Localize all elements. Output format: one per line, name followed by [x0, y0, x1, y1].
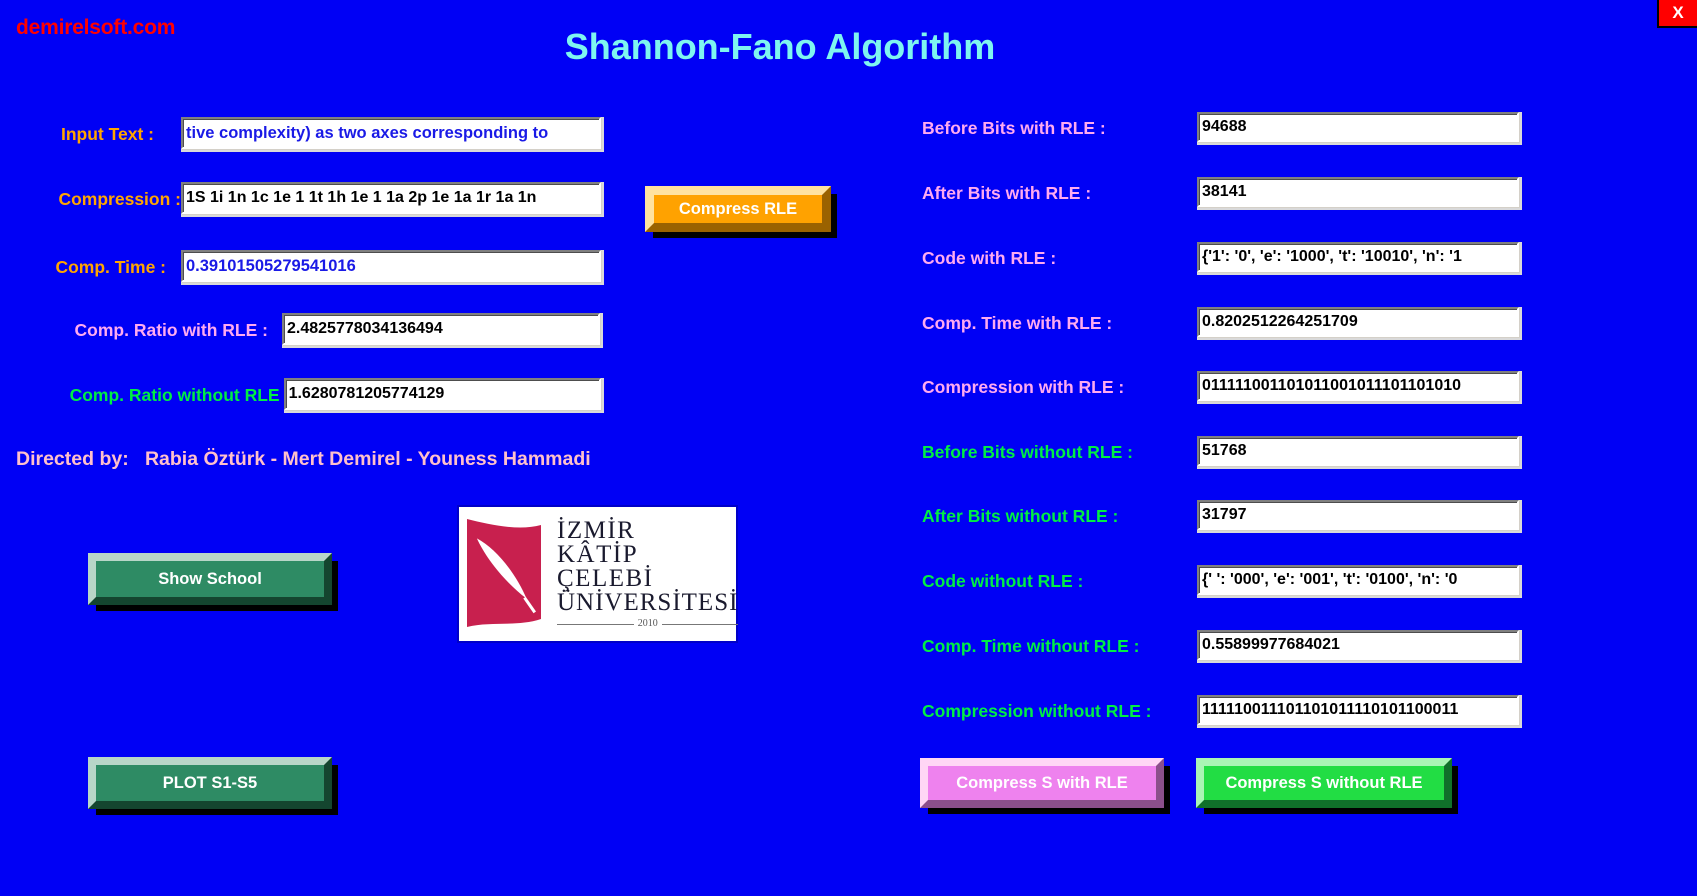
field-row-compression-without-rle: Compression without RLE : 11111001110110… [922, 695, 1522, 728]
after-bits-without-rle-field[interactable]: 31797 [1197, 500, 1519, 530]
label-compression: Compression : [44, 189, 181, 210]
comp-time-field[interactable]: 0.39101505279541016 [181, 250, 601, 282]
label-before-bits-with-rle: Before Bits with RLE : [922, 118, 1182, 139]
label-after-bits-with-rle: After Bits with RLE : [922, 183, 1182, 204]
label-after-bits-without-rle: After Bits without RLE : [922, 506, 1182, 527]
close-icon[interactable]: X [1657, 0, 1697, 28]
comp-ratio-with-rle-field[interactable]: 2.4825778034136494 [282, 313, 600, 345]
logo-text: İZMİR KÂTİP ÇELEBİ ÜNİVERSİTESİ 2010 [557, 519, 738, 629]
show-school-button-label: Show School [88, 553, 332, 605]
field-row-code-without-rle: Code without RLE : {' ': '000', 'e': '00… [922, 565, 1522, 598]
field-row-input-text: Input Text : tive complexity) as two axe… [44, 117, 604, 152]
label-code-with-rle: Code with RLE : [922, 248, 1182, 269]
compress-rle-button-label: Compress RLE [645, 186, 831, 232]
field-row-before-bits-without-rle: Before Bits without RLE : 51768 [922, 436, 1522, 469]
before-bits-without-rle-field[interactable]: 51768 [1197, 436, 1519, 466]
plot-button-label: PLOT S1-S5 [88, 757, 332, 809]
field-row-after-bits-without-rle: After Bits without RLE : 31797 [922, 500, 1522, 533]
label-comp-time: Comp. Time : [44, 257, 166, 278]
credits-text: Directed by: Rabia Öztürk - Mert Demirel… [16, 448, 591, 471]
field-row-after-bits-with-rle: After Bits with RLE : 38141 [922, 177, 1522, 210]
app-window: demirelsoft.com Shannon-Fano Algorithm X… [0, 0, 1697, 896]
comp-ratio-without-rle-field[interactable]: 1.6280781205774129 [284, 378, 601, 410]
label-comp-ratio-with-rle: Comp. Ratio with RLE : [44, 320, 268, 341]
compress-rle-button[interactable]: Compress RLE [645, 186, 831, 232]
field-row-comp-time-with-rle: Comp. Time with RLE : 0.8202512264251709 [922, 307, 1522, 340]
code-with-rle-field[interactable]: {'1': '0', 'e': '1000', 't': '10010', 'n… [1197, 242, 1519, 272]
input-text-field[interactable]: tive complexity) as two axes correspondi… [181, 117, 601, 149]
label-compression-without-rle: Compression without RLE : [922, 701, 1182, 722]
logo-flag-icon [461, 515, 547, 633]
label-input-text: Input Text : [44, 124, 154, 145]
page-title: Shannon-Fano Algorithm [0, 26, 1560, 68]
label-comp-ratio-without-rle: Comp. Ratio without RLE [44, 385, 280, 406]
compress-s-without-rle-button[interactable]: Compress S without RLE [1196, 758, 1452, 808]
logo-line-1: İZMİR [557, 519, 738, 543]
school-logo: İZMİR KÂTİP ÇELEBİ ÜNİVERSİTESİ 2010 [457, 505, 738, 643]
comp-time-without-rle-field[interactable]: 0.55899977684021 [1197, 630, 1519, 660]
compress-s-with-rle-button[interactable]: Compress S with RLE [920, 758, 1164, 808]
plot-button[interactable]: PLOT S1-S5 [88, 757, 332, 809]
rule-left [557, 624, 634, 625]
compression-with-rle-field[interactable]: 011111001101011001011101101010 [1197, 371, 1519, 401]
code-without-rle-field[interactable]: {' ': '000', 'e': '001', 't': '0100', 'n… [1197, 565, 1519, 595]
logo-line-2: KÂTİP ÇELEBİ [557, 543, 738, 591]
comp-time-with-rle-field[interactable]: 0.8202512264251709 [1197, 307, 1519, 337]
field-row-comp-time: Comp. Time : 0.39101505279541016 [44, 250, 604, 285]
logo-year-rule: 2010 [557, 619, 738, 629]
label-compression-with-rle: Compression with RLE : [922, 377, 1182, 398]
label-code-without-rle: Code without RLE : [922, 571, 1182, 592]
field-row-before-bits-with-rle: Before Bits with RLE : 94688 [922, 112, 1522, 145]
show-school-button[interactable]: Show School [88, 553, 332, 605]
field-row-ratio-without-rle: Comp. Ratio without RLE 1.62807812057741… [44, 378, 604, 413]
before-bits-with-rle-field[interactable]: 94688 [1197, 112, 1519, 142]
label-before-bits-without-rle: Before Bits without RLE : [922, 442, 1182, 463]
rule-right [662, 624, 739, 625]
label-comp-time-with-rle: Comp. Time with RLE : [922, 313, 1182, 334]
field-row-code-with-rle: Code with RLE : {'1': '0', 'e': '1000', … [922, 242, 1522, 275]
logo-year: 2010 [638, 619, 658, 629]
logo-line-3: ÜNİVERSİTESİ [557, 591, 738, 615]
after-bits-with-rle-field[interactable]: 38141 [1197, 177, 1519, 207]
field-row-comp-time-without-rle: Comp. Time without RLE : 0.5589997768402… [922, 630, 1522, 663]
field-row-compression: Compression : 1S 1i 1n 1c 1e 1 1t 1h 1e … [44, 182, 604, 217]
compression-field[interactable]: 1S 1i 1n 1c 1e 1 1t 1h 1e 1 1a 2p 1e 1a … [181, 182, 601, 214]
field-row-compression-with-rle: Compression with RLE : 01111100110101100… [922, 371, 1522, 404]
label-comp-time-without-rle: Comp. Time without RLE : [922, 636, 1182, 657]
compress-s-with-rle-button-label: Compress S with RLE [920, 758, 1164, 808]
compress-s-without-rle-button-label: Compress S without RLE [1196, 758, 1452, 808]
field-row-ratio-with-rle: Comp. Ratio with RLE : 2.482577803413649… [44, 313, 604, 348]
compression-without-rle-field[interactable]: 111110011101101011110101100011 [1197, 695, 1519, 725]
